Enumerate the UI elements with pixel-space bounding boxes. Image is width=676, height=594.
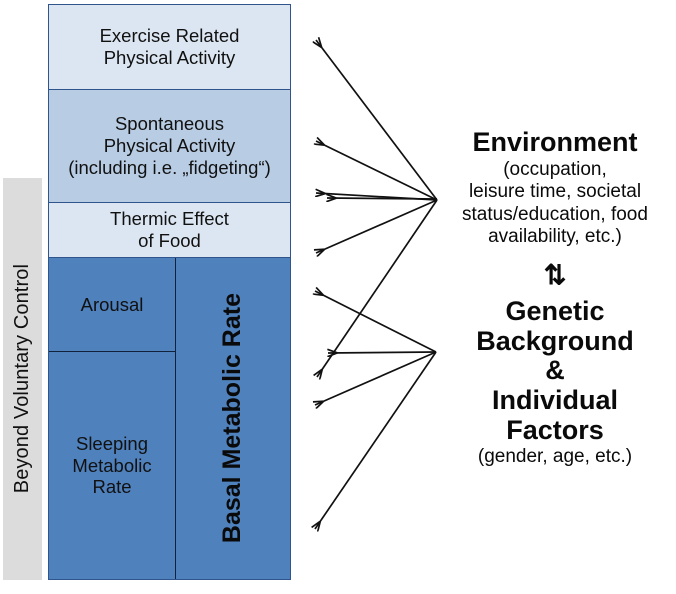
environment-detail: (occupation, leisure time, societal stat…	[440, 159, 670, 249]
box-thermic-label: Thermic Effect of Food	[110, 208, 229, 252]
box-exercise-line-1: Exercise Related	[100, 25, 240, 46]
genetic-title: Genetic Background & Individual Factors	[440, 297, 670, 445]
box-sleeping-line-3: Rate	[92, 476, 131, 497]
energy-expenditure-diagram: Beyond Voluntary Control Exercise Relate…	[0, 0, 676, 594]
box-sleeping-label: Sleeping Metabolic Rate	[72, 433, 151, 498]
box-sleeping-metabolic-rate: Sleeping Metabolic Rate	[49, 352, 176, 579]
box-basal-metabolic-rate-group: Arousal Sleeping Metabolic Rate Basal Me…	[48, 257, 291, 580]
genetic-background-factor-block: Genetic Background & Individual Factors …	[440, 297, 670, 469]
basal-metabolic-rate-vertical-label: Basal Metabolic Rate	[218, 293, 248, 543]
arrow-environment-to-exercise	[316, 40, 437, 200]
environment-title: Environment	[440, 128, 670, 158]
box-spontaneous-label: Spontaneous Physical Activity (including…	[68, 113, 271, 178]
genetic-title-line-5: Factors	[506, 415, 604, 445]
box-basal-metabolic-rate: Basal Metabolic Rate	[176, 258, 290, 579]
genetic-title-line-2: Background	[476, 326, 634, 356]
environment-factor-block: Environment (occupation, leisure time, s…	[440, 128, 670, 248]
arrow-environment-to-thermic-horizontal	[327, 198, 437, 199]
box-exercise-related-physical-activity: Exercise Related Physical Activity	[48, 4, 291, 90]
environment-detail-line-1: (occupation,	[503, 159, 607, 180]
box-thermic-line-1: Thermic Effect	[110, 208, 229, 229]
box-exercise-line-2: Physical Activity	[104, 47, 236, 68]
box-sleeping-line-2: Metabolic	[72, 455, 151, 476]
box-exercise-label: Exercise Related Physical Activity	[100, 25, 240, 69]
arrow-environment-to-spontaneous-lower	[316, 193, 437, 200]
box-arousal-label: Arousal	[81, 294, 144, 316]
beyond-voluntary-control-label: Beyond Voluntary Control	[11, 264, 34, 493]
arrow-genetic-to-sleeping-upper	[315, 352, 436, 405]
box-spontaneous-line-3: (including i.e. „fidgeting“)	[68, 157, 271, 178]
arrow-environment-to-arousal	[317, 200, 437, 377]
box-spontaneous-line-1: Spontaneous	[115, 113, 224, 134]
environment-detail-line-3: status/education, food	[462, 204, 648, 225]
box-thermic-effect-of-food: Thermic Effect of Food	[48, 202, 291, 258]
box-sleeping-line-1: Sleeping	[76, 433, 148, 454]
arrow-genetic-to-arousal-horizontal	[328, 352, 436, 353]
bidirectional-arrow-icon: ⇅	[440, 262, 670, 289]
box-spontaneous-line-2: Physical Activity	[104, 135, 236, 156]
beyond-voluntary-control-band: Beyond Voluntary Control	[3, 178, 42, 580]
environment-detail-line-4: availability, etc.)	[488, 226, 622, 247]
arrow-genetic-to-thermic	[315, 291, 436, 352]
genetic-title-line-4: Individual	[492, 385, 618, 415]
box-thermic-line-2: of Food	[138, 230, 201, 251]
genetic-title-line-3: &	[545, 355, 565, 385]
genetic-title-line-1: Genetic	[505, 296, 604, 326]
genetic-detail: (gender, age, etc.)	[440, 446, 670, 468]
arrow-environment-to-thermic	[316, 200, 437, 253]
environment-detail-line-2: leisure time, societal	[469, 181, 641, 202]
arrow-genetic-to-sleeping-lower	[315, 352, 436, 529]
box-spontaneous-physical-activity: Spontaneous Physical Activity (including…	[48, 89, 291, 203]
box-arousal: Arousal	[49, 258, 176, 352]
arrow-environment-to-spontaneous-upper	[316, 141, 437, 200]
